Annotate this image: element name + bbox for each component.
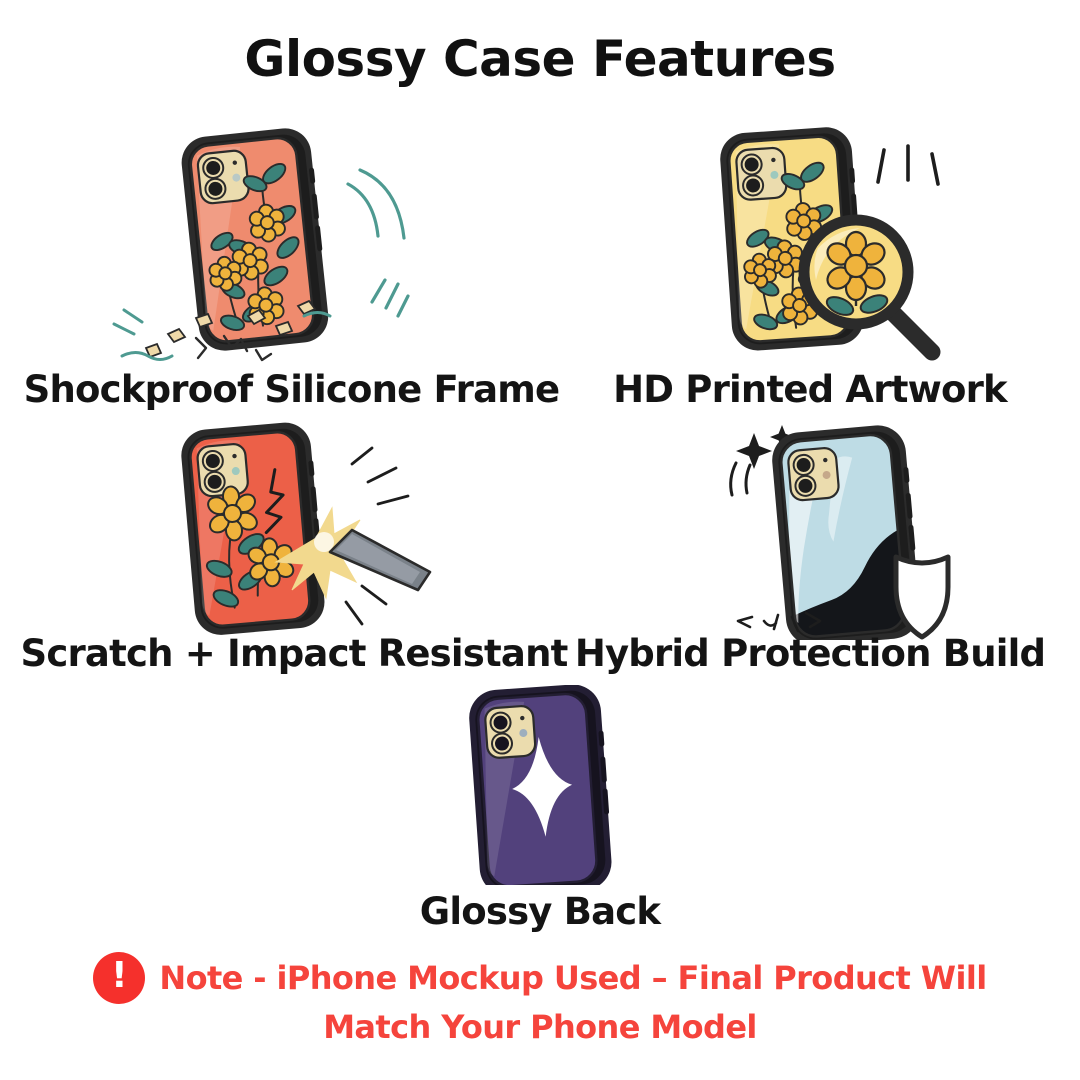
note-banner: ! Note - iPhone Mockup Used – Final Prod… (0, 952, 1080, 1046)
phone-case-sparkle-icon (270, 685, 810, 885)
phone-case-shield-icon (540, 415, 1080, 640)
feature-label-scratch-impact-resistant: Scratch + Impact Resistant (0, 632, 588, 675)
feature-card-shockproof-silicone-frame (0, 120, 540, 374)
phone-case-magnifier-icon (540, 120, 1080, 370)
feature-card-hd-printed-artwork (540, 120, 1080, 374)
feature-label-glossy-back: Glossy Back (270, 890, 810, 933)
feature-label-hybrid-protection-build: Hybrid Protection Build (540, 632, 1080, 675)
feature-label-hd-printed-artwork: HD Printed Artwork (540, 368, 1080, 411)
feature-card-glossy-back (270, 685, 810, 889)
note-line-2: Match Your Phone Model (323, 1008, 757, 1046)
feature-infographic: Glossy Case Features (0, 0, 1080, 1080)
exclamation-glyph: ! (111, 958, 127, 994)
page-title: Glossy Case Features (0, 30, 1080, 88)
feature-card-hybrid-protection-build (540, 415, 1080, 644)
phone-case-impact-icon (0, 120, 540, 370)
note-line-1: Note - iPhone Mockup Used – Final Produc… (159, 959, 986, 997)
phone-case-scratch-icon (0, 420, 540, 640)
feature-card-scratch-impact-resistant (0, 420, 540, 644)
exclamation-circle-icon: ! (93, 952, 145, 1004)
feature-label-shockproof-silicone-frame: Shockproof Silicone Frame (0, 368, 583, 411)
blade-icon (330, 530, 430, 590)
